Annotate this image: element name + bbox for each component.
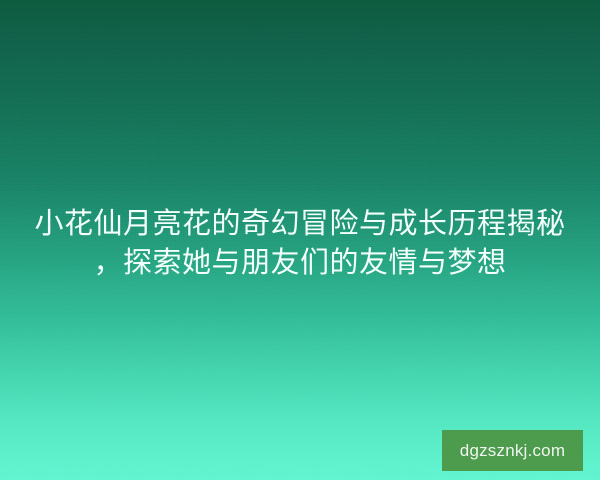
watermark-badge: dgzsznkj.com <box>442 430 583 471</box>
watermark-url-text: dgzsznkj.com <box>460 442 565 459</box>
title-block: 小花仙月亮花的奇幻冒险与成长历程揭秘 ，探索她与朋友们的友情与梦想 <box>0 205 600 283</box>
page-title-line-1: 小花仙月亮花的奇幻冒险与成长历程揭秘 <box>0 205 600 244</box>
page-title-line-2: ，探索她与朋友们的友情与梦想 <box>0 244 600 283</box>
image-card: 小花仙月亮花的奇幻冒险与成长历程揭秘 ，探索她与朋友们的友情与梦想 dgzszn… <box>0 0 600 480</box>
